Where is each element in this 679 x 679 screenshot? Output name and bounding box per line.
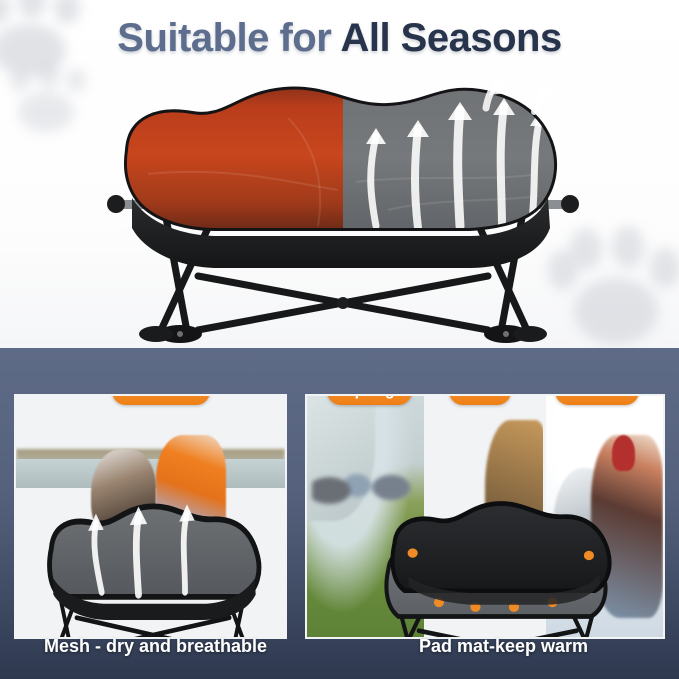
- caption-mesh: Mesh - dry and breathable: [44, 636, 267, 657]
- marketing-infographic: Suitable for All Seasons: [0, 0, 679, 679]
- hero-section: Suitable for All Seasons: [0, 0, 679, 370]
- frame-cross-joint: [337, 297, 349, 309]
- badge-summer: Summer: [112, 394, 210, 405]
- three-season-panel[interactable]: Spring Fall Winter: [305, 394, 665, 639]
- mesh-bed-overlay: [32, 502, 274, 639]
- badge-fall: Fall: [449, 394, 511, 405]
- bed-top-surface: [118, 78, 573, 238]
- seasons-section: Summer: [0, 348, 679, 679]
- badge-spring: Spring: [327, 394, 412, 405]
- paw-print-icon: [8, 68, 94, 136]
- title-part-dark: All Seasons: [340, 16, 561, 60]
- summer-panel[interactable]: Summer: [14, 394, 287, 639]
- hero-product-image: [88, 78, 598, 368]
- pad-mat-bed-overlay: [364, 492, 627, 639]
- caption-pad: Pad mat-keep warm: [419, 636, 588, 657]
- page-title: Suitable for All Seasons: [0, 16, 679, 61]
- badge-winter: Winter: [555, 394, 639, 405]
- title-part-light: Suitable for: [117, 16, 340, 60]
- elevated-pet-bed-illustration: [88, 78, 598, 368]
- season-panels: Summer: [0, 394, 679, 634]
